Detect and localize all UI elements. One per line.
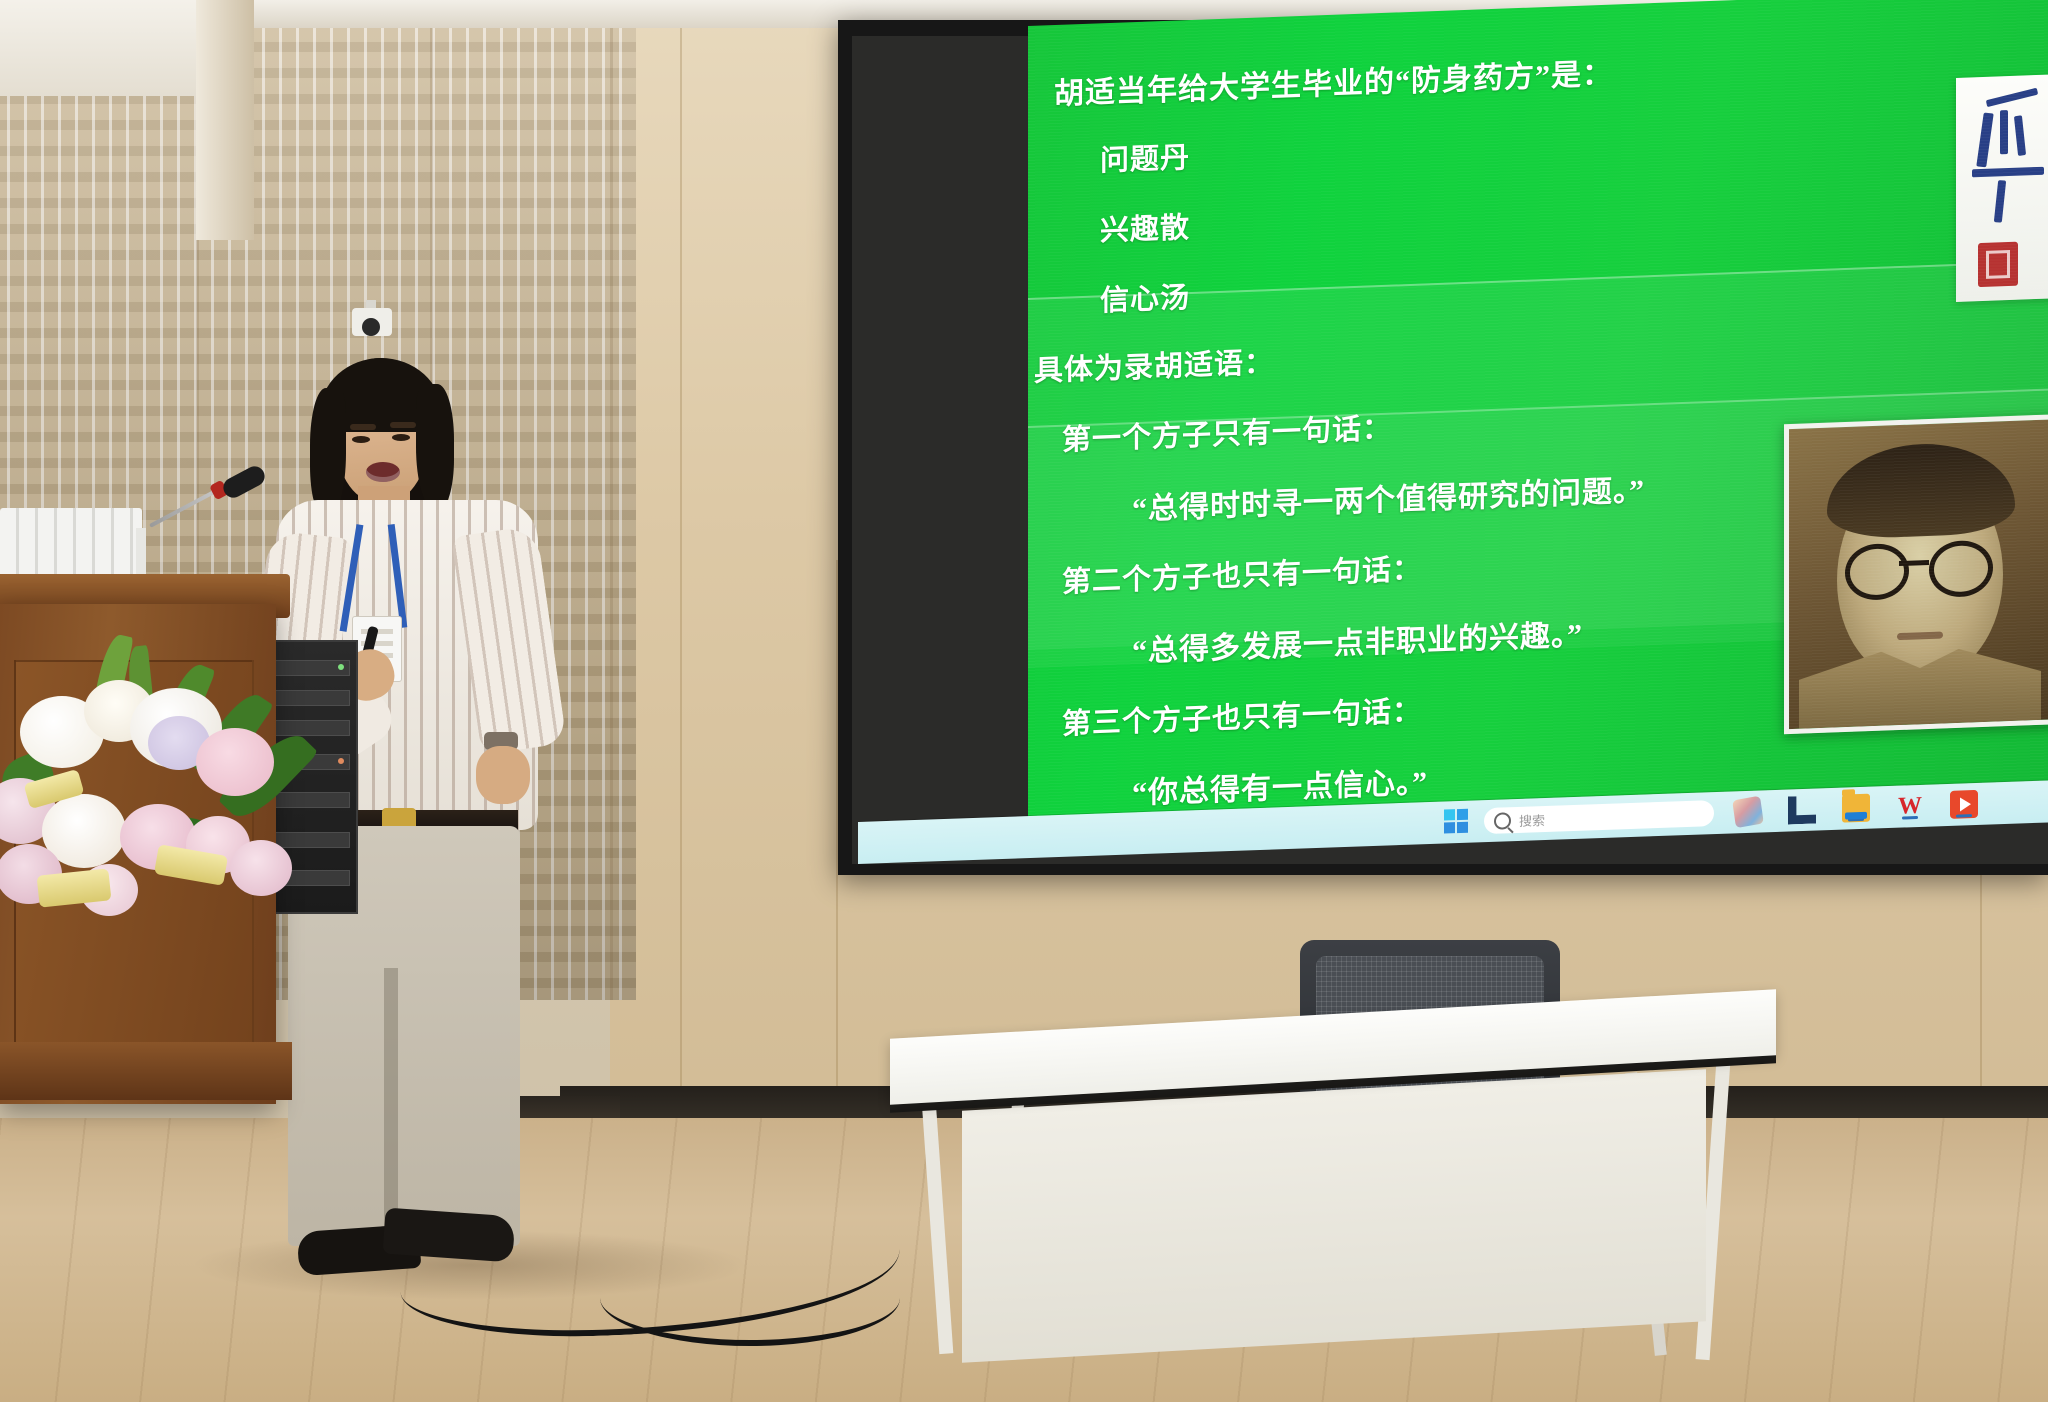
speaker-hair-left bbox=[310, 388, 346, 518]
slide-title: 胡适当年给大学生毕业的“防身药方”是： bbox=[1054, 49, 1613, 113]
table-modesty-panel bbox=[962, 1069, 1706, 1363]
wall-seam bbox=[680, 0, 682, 1110]
portrait-hair bbox=[1827, 441, 2015, 540]
slide-item-2: 兴趣散 bbox=[1100, 204, 1190, 249]
camera-lens-icon bbox=[362, 318, 380, 336]
slide-prescription-2-label: 第二个方子也只有一句话： bbox=[1062, 546, 1422, 601]
photos-icon[interactable] bbox=[1732, 796, 1764, 828]
lectern-base bbox=[0, 1042, 292, 1100]
calligraphy-card bbox=[1956, 74, 2048, 302]
speaker-eye-left bbox=[352, 436, 370, 443]
wps-presentation-icon[interactable] bbox=[1950, 790, 1978, 819]
flower-bouquet bbox=[0, 628, 310, 918]
search-icon bbox=[1494, 812, 1511, 830]
flower-pink bbox=[230, 840, 292, 896]
windows-start-icon[interactable] bbox=[1444, 809, 1470, 836]
projected-slide[interactable]: 胡适当年给大学生毕业的“防身药方”是： 问题丹 兴趣散 信心汤 具体为录胡适语：… bbox=[1028, 0, 2048, 836]
slide-item-3: 信心汤 bbox=[1100, 274, 1190, 319]
slide-lead-in: 具体为录胡适语： bbox=[1034, 339, 1274, 390]
taskbar-running-indicator bbox=[1902, 816, 1918, 820]
wall-soffit bbox=[196, 0, 254, 240]
calligraphy-stroke bbox=[1976, 113, 1993, 168]
gooseneck-microphone bbox=[150, 476, 228, 554]
calligraphy-stroke bbox=[2014, 115, 2026, 156]
calligraphy-stroke bbox=[2000, 110, 2008, 154]
slide-prescription-1-label: 第一个方子只有一句话： bbox=[1062, 405, 1392, 459]
speaker-hair-right bbox=[416, 384, 454, 510]
search-placeholder-text: 搜索 bbox=[1519, 810, 1545, 830]
rack-status-led bbox=[338, 664, 344, 670]
slide-prescription-2-quote: “总得多发展一点非职业的兴趣。” bbox=[1132, 610, 1583, 671]
wall-seam bbox=[610, 0, 613, 1000]
speaker-hand-right bbox=[476, 746, 530, 804]
taskbar-running-indicator bbox=[1848, 818, 1864, 822]
taskbar-search-input[interactable]: 搜索 bbox=[1484, 800, 1714, 834]
calligraphy-stroke bbox=[1972, 167, 2044, 178]
speaker-eye-right bbox=[392, 434, 410, 441]
floor-cable bbox=[600, 1250, 900, 1346]
slide-prescription-1-quote: “总得时时寻一两个值得研究的问题。” bbox=[1132, 465, 1645, 528]
flower-pink bbox=[196, 728, 274, 796]
portrait-photo bbox=[1784, 414, 2048, 734]
slide-item-1: 问题丹 bbox=[1100, 134, 1190, 179]
presentation-scene: 胡适当年给大学生毕业的“防身药方”是： 问题丹 兴趣散 信心汤 具体为录胡适语：… bbox=[0, 0, 2048, 1402]
taskbar-running-indicator bbox=[1956, 814, 1972, 818]
calligraphy-stroke bbox=[1986, 88, 2038, 107]
calligraphy-stroke bbox=[1994, 180, 2006, 222]
speaker-brow-left bbox=[350, 424, 376, 430]
speaker-brow-right bbox=[390, 422, 416, 428]
speaker-trouser-seam bbox=[384, 968, 398, 1248]
speaker-mouth bbox=[366, 462, 400, 482]
rack-status-led bbox=[338, 758, 344, 764]
taskbar-icon-group: W bbox=[1734, 787, 2048, 826]
taskbar-spacer bbox=[858, 823, 1444, 843]
red-seal-icon bbox=[1978, 242, 2018, 287]
wps-office-icon[interactable]: W bbox=[1896, 792, 1924, 821]
slide-prescription-3-label: 第三个方子也只有一句话： bbox=[1062, 688, 1422, 743]
file-explorer-icon[interactable] bbox=[1842, 794, 1870, 823]
lenovo-icon[interactable] bbox=[1788, 796, 1816, 825]
